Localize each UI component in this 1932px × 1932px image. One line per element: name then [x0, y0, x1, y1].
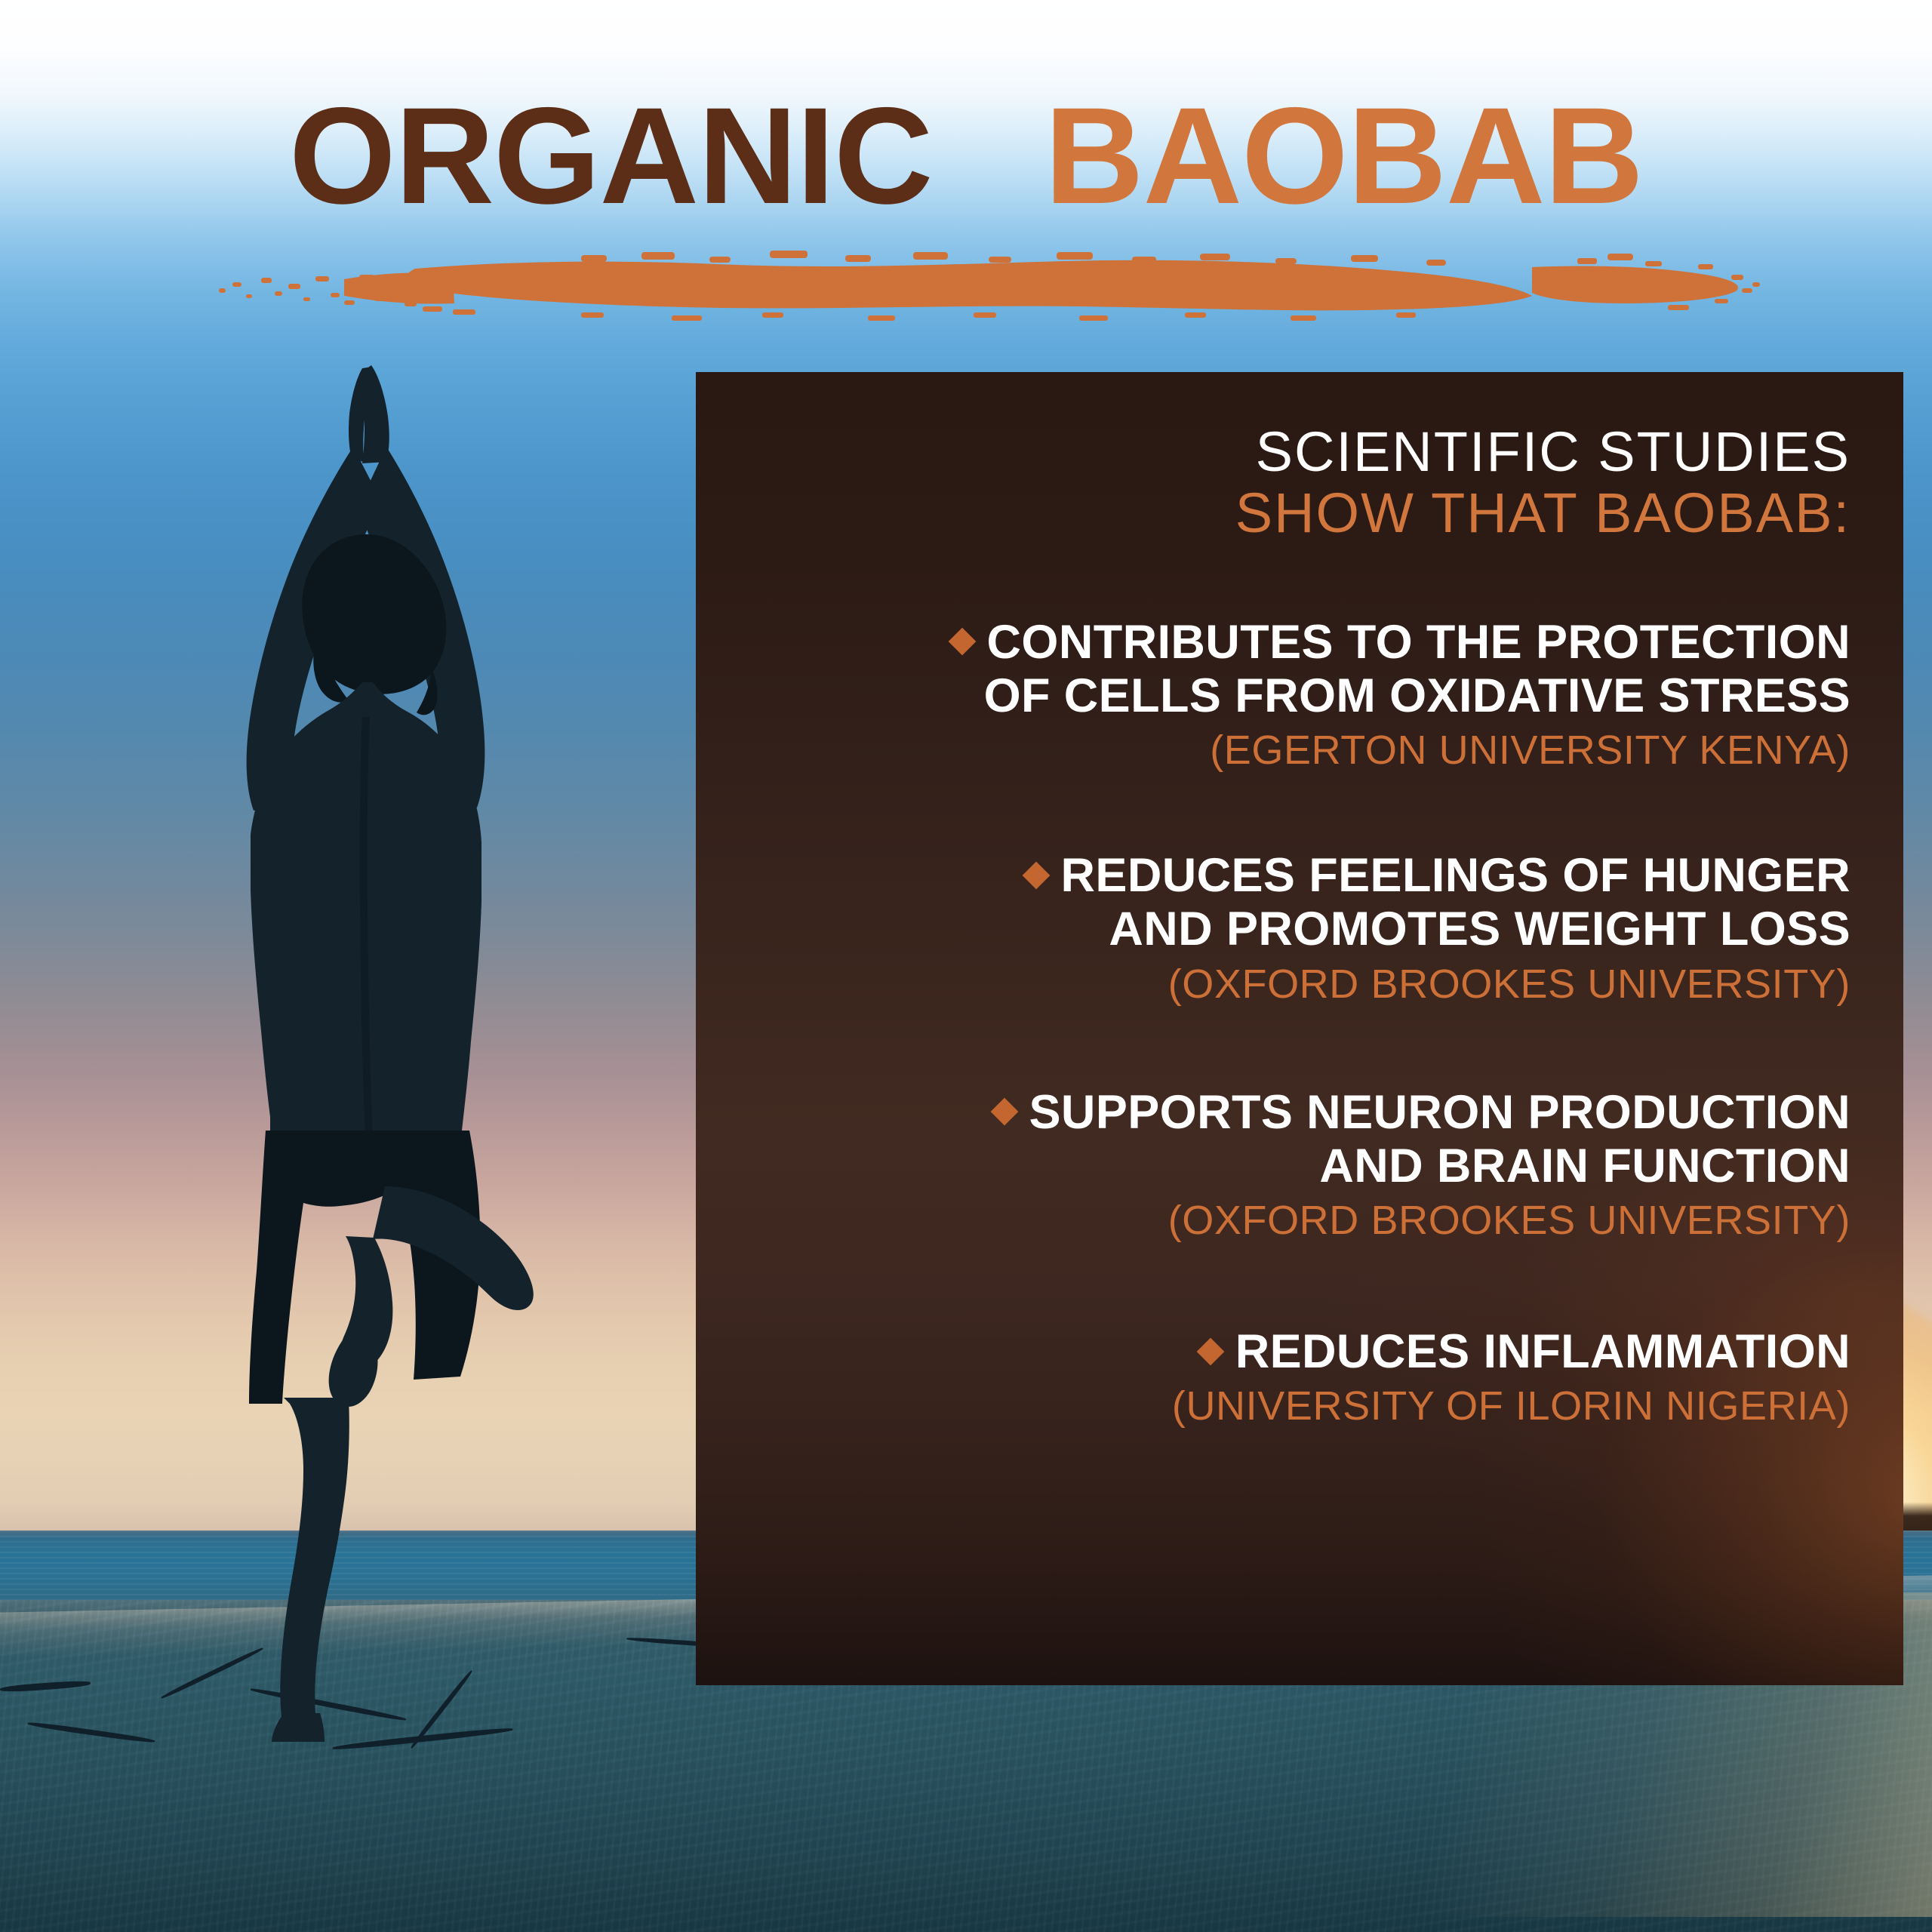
- claim-line-1: REDUCES FEELINGS OF HUNGER: [1061, 849, 1851, 902]
- claim-line-1: SUPPORTS NEURON PRODUCTION: [1029, 1086, 1850, 1139]
- claim-source: (UNIVERSITY OF ILORIN NIGERIA): [749, 1380, 1850, 1432]
- claim-item: REDUCES INFLAMMATION (UNIVERSITY OF ILOR…: [749, 1325, 1850, 1432]
- scientific-studies-panel: SCIENTIFIC STUDIES SHOW THAT BAOBAB: CON…: [696, 372, 1903, 1685]
- claim-text: CONTRIBUTES TO THE PROTECTION OF CELLS F…: [749, 616, 1850, 723]
- claim-source: (OXFORD BROOKES UNIVERSITY): [749, 958, 1850, 1011]
- title-word-organic: ORGANIC: [289, 78, 932, 232]
- panel-heading-line-2: SHOW THAT BAOBAB:: [749, 480, 1850, 546]
- claim-source: (OXFORD BROOKES UNIVERSITY): [749, 1195, 1850, 1247]
- claim-text: REDUCES INFLAMMATION: [749, 1325, 1850, 1379]
- claim-text: REDUCES FEELINGS OF HUNGER AND PROMOTES …: [749, 849, 1850, 956]
- claims-list: CONTRIBUTES TO THE PROTECTION OF CELLS F…: [749, 616, 1850, 1433]
- claim-source: (EGERTON UNIVERSITY KENYA): [749, 724, 1850, 777]
- claim-item: SUPPORTS NEURON PRODUCTION AND BRAIN FUN…: [749, 1086, 1850, 1247]
- diamond-bullet-icon: [1196, 1337, 1224, 1365]
- brush-stroke-underline: [189, 249, 1766, 325]
- claim-item: CONTRIBUTES TO THE PROTECTION OF CELLS F…: [749, 616, 1850, 777]
- claim-line-2: OF CELLS FROM OXIDATIVE STRESS: [984, 669, 1850, 722]
- yoga-figure-silhouette: [136, 362, 604, 1743]
- claim-line-2: AND PROMOTES WEIGHT LOSS: [1109, 903, 1850, 955]
- title-word-baobab: BAOBAB: [1044, 78, 1643, 232]
- diamond-bullet-icon: [948, 628, 976, 656]
- diamond-bullet-icon: [990, 1098, 1018, 1126]
- poster-root: ORGANIC BAOBAB: [0, 0, 1932, 1932]
- claim-item: REDUCES FEELINGS OF HUNGER AND PROMOTES …: [749, 849, 1850, 1010]
- panel-heading-line-1: SCIENTIFIC STUDIES: [749, 423, 1850, 480]
- claim-line-1: CONTRIBUTES TO THE PROTECTION: [987, 616, 1850, 669]
- page-title: ORGANIC BAOBAB: [0, 87, 1932, 224]
- claim-text: SUPPORTS NEURON PRODUCTION AND BRAIN FUN…: [749, 1086, 1850, 1193]
- claim-line-2: AND BRAIN FUNCTION: [1319, 1140, 1850, 1192]
- claim-line-1: REDUCES INFLAMMATION: [1235, 1325, 1850, 1378]
- diamond-bullet-icon: [1022, 861, 1050, 889]
